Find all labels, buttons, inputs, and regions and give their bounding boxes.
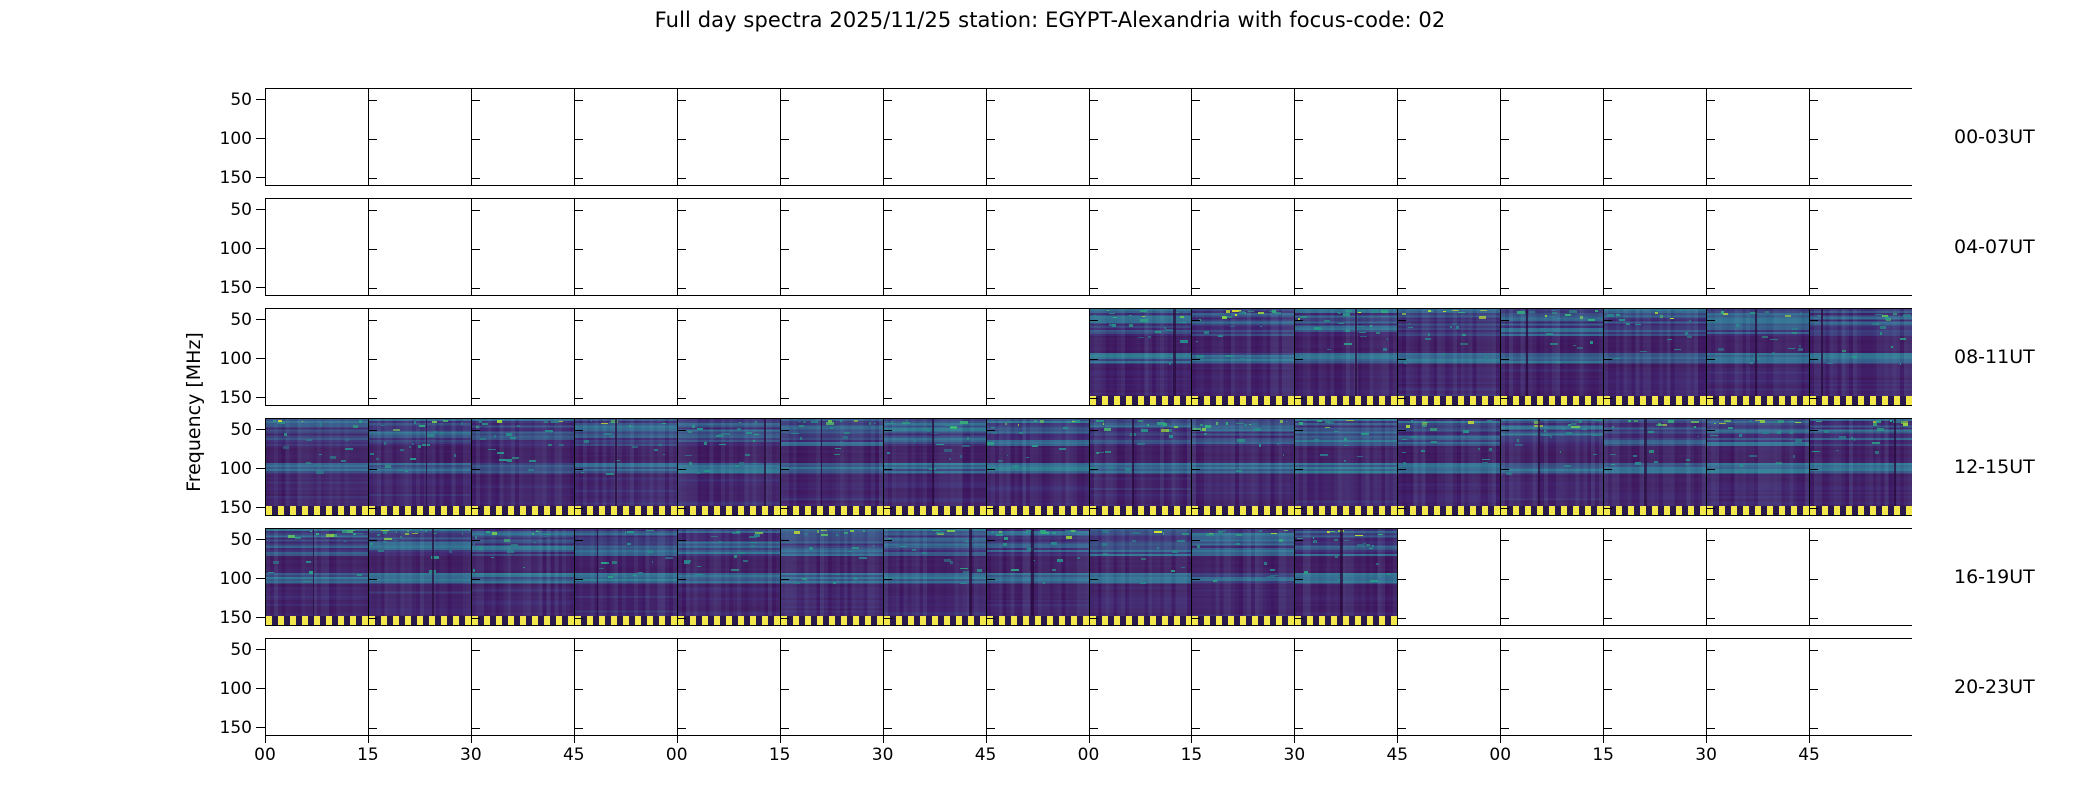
spectrogram-panel: [883, 638, 986, 736]
y-tick-mark-inner: [781, 359, 789, 360]
spectrogram-feature: [1891, 346, 1893, 348]
y-tick-mark-inner: [1810, 508, 1818, 509]
spectrogram-feature: [1254, 428, 1261, 431]
y-tick-mark-inner: [781, 100, 789, 101]
y-tick-mark-inner: [678, 249, 686, 250]
spectrogram-feature: [1358, 312, 1360, 313]
y-tick-mark-inner: [575, 650, 583, 651]
spectrogram-feature: [1157, 547, 1160, 548]
spectrogram-feature: [684, 561, 691, 564]
spectrogram-feature: [1626, 323, 1629, 324]
spectrogram-feature: [1431, 441, 1438, 443]
spectrogram-feature: [1196, 355, 1204, 358]
spectrogram-feature: [963, 571, 968, 573]
x-tick-label: 15: [1181, 745, 1203, 765]
spectrogram-feature: [1788, 421, 1793, 423]
spectrogram-feature: [1372, 310, 1378, 313]
y-tick-mark-inner: [575, 288, 583, 289]
y-tick-mark: [256, 177, 265, 178]
spectrogram-panel: [1191, 528, 1294, 626]
y-tick-mark-inner: [1398, 508, 1406, 509]
y-tick-mark-inner: [472, 139, 480, 140]
spectrogram-feature: [863, 530, 865, 532]
spectrogram-feature: [1174, 426, 1177, 428]
y-tick-mark-inner: [575, 689, 583, 690]
spectrogram-panel: [1603, 418, 1706, 516]
spectrogram-feature: [1872, 442, 1880, 444]
spectrogram-feature: [517, 425, 520, 427]
spectrogram-feature: [947, 530, 955, 532]
spectrogram-feature: [1286, 421, 1288, 423]
spectrogram-feature: [288, 535, 295, 537]
spectrogram-panel: [471, 528, 574, 626]
spectrogram-bottom-strip: [575, 506, 677, 515]
spectrogram-feature: [1236, 534, 1242, 535]
spectrogram-dropout: [1526, 309, 1529, 396]
spectrogram-feature: [1529, 311, 1535, 313]
y-tick-mark-inner: [987, 398, 995, 399]
spectrogram-feature: [1300, 316, 1308, 318]
x-tick-mark: [677, 736, 678, 743]
spectrogram-feature: [433, 431, 438, 433]
spectrogram-feature: [1068, 422, 1071, 424]
spectrogram-feature: [707, 424, 713, 425]
spectrogram-feature: [1251, 423, 1258, 425]
spectrogram-panel: [574, 528, 677, 626]
y-tick-mark-inner: [884, 430, 892, 431]
spectrogram-feature: [316, 424, 318, 425]
spectrogram-feature: [1552, 312, 1557, 314]
spectrogram-data: [781, 419, 883, 515]
spectrogram-feature: [854, 577, 857, 580]
y-tick-mark-inner: [1810, 540, 1818, 541]
spectrogram-feature: [1762, 432, 1769, 434]
spectrogram-panel: [986, 308, 1089, 406]
y-tick-mark-inner: [678, 398, 686, 399]
spectrogram-feature: [1679, 310, 1683, 311]
spectrogram-panel: [1603, 198, 1706, 296]
spectrogram-bottom-strip: [987, 506, 1089, 515]
y-tick-mark-inner: [781, 430, 789, 431]
y-tick-label: 50: [230, 310, 252, 330]
spectrogram-feature: [1165, 329, 1173, 331]
y-tick-mark-inner: [575, 430, 583, 431]
spectrogram-feature: [1614, 358, 1620, 359]
spectrogram-panel: [1809, 638, 1912, 736]
spectrogram-feature: [711, 536, 718, 538]
spectrogram-feature: [310, 531, 313, 532]
spectrogram-feature: [393, 540, 399, 541]
y-tick-mark-inner: [1707, 249, 1715, 250]
x-tick-label: 30: [1695, 745, 1717, 765]
y-tick-mark: [256, 617, 265, 618]
spectrogram-feature: [1588, 319, 1595, 321]
y-tick-mark-inner: [1295, 469, 1303, 470]
spectrogram-feature: [1569, 310, 1577, 313]
spectrogram-feature: [821, 530, 826, 531]
spectrogram-feature: [497, 452, 504, 454]
spectrogram-feature: [1785, 315, 1790, 318]
y-tick-mark-inner: [1707, 178, 1715, 179]
spectrogram-data: [266, 419, 368, 515]
y-tick-mark-inner: [1295, 288, 1303, 289]
spectrogram-feature: [755, 575, 757, 576]
spectrogram-feature: [1077, 557, 1080, 559]
spectrogram-data: [987, 419, 1089, 515]
spectrogram-feature: [1226, 310, 1230, 313]
spectrogram-panel: [1809, 528, 1912, 626]
y-tick-mark-inner: [1192, 579, 1200, 580]
spectrogram-feature: [462, 532, 464, 535]
spectrogram-feature: [1356, 326, 1364, 327]
y-tick-mark-inner: [1398, 430, 1406, 431]
spectrogram-feature: [1772, 352, 1775, 355]
spectrogram-feature: [1357, 544, 1365, 547]
x-tick-label: 15: [357, 745, 379, 765]
y-tick-label: 150: [220, 608, 252, 628]
spectrogram-feature: [1718, 348, 1724, 350]
x-tick-mark: [1089, 736, 1090, 743]
spectrogram-dropout: [615, 419, 617, 506]
y-tick-mark-inner: [575, 728, 583, 729]
y-tick-label: 100: [220, 679, 252, 699]
y-tick-mark-inner: [987, 100, 995, 101]
y-tick-mark-inner: [1295, 359, 1303, 360]
y-tick-mark-inner: [472, 320, 480, 321]
y-tick-mark-inner: [1501, 320, 1509, 321]
spectrogram-feature: [415, 530, 419, 533]
y-tick-mark-inner: [1604, 508, 1612, 509]
spectrogram-feature: [648, 550, 652, 553]
spectrogram-panel: [1706, 528, 1809, 626]
y-tick-label: 50: [230, 640, 252, 660]
x-tick-label: 00: [666, 745, 688, 765]
spectrogram-feature: [848, 551, 852, 552]
spectrogram-panel: [1089, 308, 1192, 406]
spectrogram-feature: [344, 541, 347, 542]
spectrogram-feature: [1376, 332, 1380, 335]
y-tick-mark-inner: [1192, 398, 1200, 399]
y-tick-mark-inner: [369, 430, 377, 431]
spectrogram-panel: [883, 88, 986, 186]
spectrogram-dropout: [1173, 309, 1176, 396]
y-tick-mark-inner: [678, 469, 686, 470]
y-tick-mark-inner: [884, 540, 892, 541]
spectrogram-feature: [507, 459, 512, 462]
spectrogram-feature: [1004, 537, 1008, 540]
y-tick-mark-inner: [1398, 359, 1406, 360]
y-tick-mark-inner: [781, 320, 789, 321]
spectrogram-feature: [1571, 426, 1579, 428]
spectrogram-feature: [1667, 339, 1673, 341]
spectrogram-feature: [1204, 331, 1209, 333]
spectrogram-data: [1192, 419, 1294, 515]
y-tick-mark-inner: [1707, 689, 1715, 690]
spectrogram-feature: [1610, 454, 1616, 455]
y-tick-mark-inner: [1810, 320, 1818, 321]
spectrogram-feature: [996, 534, 1003, 536]
spectrogram-feature: [751, 545, 754, 547]
spectrogram-feature: [608, 576, 613, 578]
spectrogram-feature: [516, 546, 518, 547]
y-tick-mark-inner: [1192, 728, 1200, 729]
spectrogram-feature: [342, 530, 348, 532]
spectrogram-feature: [381, 425, 385, 426]
spectrogram-feature: [1279, 539, 1283, 542]
spectrogram-feature: [1479, 316, 1486, 318]
spectrogram-feature: [1043, 582, 1045, 583]
spectrogram-dropout: [1538, 419, 1540, 506]
y-tick-mark-inner: [575, 249, 583, 250]
spectrogram-dropout: [1132, 419, 1134, 506]
y-tick-mark-inner: [1604, 249, 1612, 250]
spectrogram-feature: [528, 469, 533, 471]
spectrogram-feature: [1428, 333, 1430, 336]
spectrogram-feature: [1404, 361, 1407, 364]
spectrogram-dropout: [1644, 419, 1647, 506]
y-tick-mark-inner: [1398, 249, 1406, 250]
spectrogram-feature: [1468, 421, 1474, 424]
spectrogram-feature: [731, 569, 739, 572]
spectrogram-feature: [1283, 454, 1284, 456]
spectrogram-feature: [1317, 420, 1322, 422]
y-tick-mark-inner: [1295, 618, 1303, 619]
y-tick-mark-inner: [987, 650, 995, 651]
spectrogram-panel: [986, 88, 1089, 186]
y-tick-mark-inner: [1501, 178, 1509, 179]
y-tick-mark-inner: [1090, 689, 1098, 690]
spectrogram-feature: [461, 422, 463, 425]
spectrogram-feature: [627, 531, 634, 533]
y-tick-mark-inner: [1090, 728, 1098, 729]
spectrogram-panel: [1397, 418, 1500, 516]
spectrogram-panel: [1603, 528, 1706, 626]
spectrogram-feature: [475, 536, 476, 538]
spectrogram-feature: [1102, 543, 1107, 546]
y-tick-mark-inner: [369, 689, 377, 690]
spectrogram-feature: [443, 420, 448, 422]
spectrogram-feature: [737, 428, 741, 431]
spectrogram-panel: [780, 308, 883, 406]
spectrogram-panel: [677, 418, 780, 516]
spectrogram-panel: [1089, 418, 1192, 516]
y-tick-mark-inner: [1090, 398, 1098, 399]
spectrogram-feature: [1337, 312, 1339, 313]
x-tick-label: 45: [1386, 745, 1408, 765]
spectrogram-dropout: [764, 419, 766, 506]
spectrogram-feature: [1376, 563, 1379, 565]
spectrogram-feature: [385, 465, 391, 467]
spectrogram-panel: [986, 198, 1089, 296]
y-tick-mark-inner: [369, 359, 377, 360]
spectrogram-panel: [1397, 638, 1500, 736]
y-tick-mark-inner: [472, 650, 480, 651]
spectrogram-row: 15010050: [265, 418, 1912, 516]
y-tick-mark-inner: [884, 100, 892, 101]
spectrogram-feature: [1740, 464, 1743, 467]
spectrogram-feature: [1577, 347, 1584, 349]
spectrogram-feature: [1003, 543, 1007, 546]
spectrogram-feature: [1236, 543, 1240, 545]
spectrogram-feature: [1313, 540, 1317, 543]
y-tick-mark-inner: [1192, 249, 1200, 250]
y-tick-mark-inner: [1295, 100, 1303, 101]
spectrogram-feature: [802, 578, 807, 580]
spectrogram-feature: [1686, 459, 1689, 460]
spectrogram-feature: [511, 544, 518, 545]
spectrogram-panel: [1500, 308, 1603, 406]
spectrogram-feature: [548, 444, 552, 446]
spectrogram-feature: [1172, 550, 1178, 552]
y-tick-mark-inner: [1810, 210, 1818, 211]
y-tick-mark-inner: [1501, 469, 1509, 470]
spectrogram-panel: [780, 88, 883, 186]
spectrogram-feature: [1071, 530, 1076, 532]
spectrogram-feature: [743, 560, 748, 562]
spectrogram-feature: [407, 530, 409, 532]
spectrogram-feature: [1334, 539, 1338, 541]
spectrogram-feature: [685, 455, 692, 456]
spectrogram-feature: [1128, 361, 1130, 362]
spectrogram-feature: [646, 530, 654, 531]
spectrogram-feature: [654, 449, 658, 451]
spectrogram-feature: [1370, 580, 1378, 582]
spectrogram-feature: [1770, 339, 1777, 341]
x-tick-mark: [1397, 736, 1398, 743]
y-tick-mark-inner: [1810, 359, 1818, 360]
y-tick-mark-inner: [369, 469, 377, 470]
spectrogram-data: [1398, 309, 1500, 405]
y-tick-mark-inner: [1810, 430, 1818, 431]
spectrogram-feature: [739, 422, 740, 424]
spectrogram-panel: [1603, 308, 1706, 406]
x-tick-label: 45: [1798, 745, 1820, 765]
spectrogram-feature: [1558, 362, 1561, 363]
spectrogram-data: [678, 419, 780, 515]
spectrogram-feature: [1197, 545, 1201, 548]
spectrogram-feature: [1710, 435, 1718, 436]
spectrogram-feature: [1008, 421, 1013, 423]
spectrogram-feature: [1517, 439, 1519, 442]
spectrogram-feature: [1425, 338, 1431, 340]
y-tick-mark-inner: [472, 210, 480, 211]
spectrogram-feature: [341, 460, 347, 462]
spectrogram-feature: [633, 575, 636, 576]
spectrogram-bottom-strip: [781, 506, 883, 515]
y-tick-mark-inner: [884, 579, 892, 580]
spectrogram-panel: [1500, 88, 1603, 186]
x-tick-label: 45: [975, 745, 997, 765]
y-tick-mark-inner: [1707, 579, 1715, 580]
spectrogram-feature: [1324, 320, 1330, 322]
spectrogram-feature: [1052, 569, 1057, 571]
spectrogram-feature: [1778, 420, 1785, 423]
spectrogram-feature: [1032, 445, 1038, 447]
spectrogram-feature: [381, 530, 388, 531]
spectrogram-feature: [306, 462, 311, 464]
spectrogram-feature: [1057, 559, 1063, 562]
y-tick-mark-inner: [1295, 430, 1303, 431]
spectrogram-feature: [912, 549, 916, 551]
y-tick-mark: [256, 397, 265, 398]
spectrogram-feature: [1052, 532, 1057, 534]
spectrogram-feature: [1141, 558, 1146, 559]
x-tick-mark: [1294, 736, 1295, 743]
spectrogram-panel: [471, 418, 574, 516]
y-tick-label: 100: [220, 239, 252, 259]
spectrogram-feature: [1324, 463, 1331, 465]
spectrogram-feature: [1482, 462, 1487, 464]
y-tick-mark-inner: [575, 178, 583, 179]
spectrogram-feature: [844, 432, 850, 433]
y-tick-mark-inner: [1604, 100, 1612, 101]
y-tick-mark-inner: [1090, 288, 1098, 289]
y-tick-mark-inner: [369, 139, 377, 140]
spectrogram-feature: [1346, 420, 1354, 421]
y-tick-mark-inner: [987, 508, 995, 509]
spectrogram-feature: [1616, 314, 1620, 316]
spectrogram-feature: [1129, 315, 1132, 316]
y-tick-mark-inner: [1604, 469, 1612, 470]
y-tick-mark-inner: [678, 100, 686, 101]
y-tick-mark-inner: [369, 650, 377, 651]
spectrogram-feature: [532, 533, 534, 535]
spectrogram-feature: [1750, 362, 1752, 364]
y-tick-mark-inner: [1398, 728, 1406, 729]
spectrogram-panel: [1706, 308, 1809, 406]
spectrogram-feature: [544, 421, 548, 423]
spectrogram-feature: [1277, 443, 1279, 446]
y-tick-mark-inner: [369, 540, 377, 541]
spectrogram-feature: [1148, 336, 1151, 337]
y-tick-mark-inner: [575, 359, 583, 360]
spectrogram-feature: [1545, 315, 1547, 317]
spectrogram-data: [1707, 309, 1809, 405]
spectrogram-feature: [1034, 420, 1037, 422]
spectrogram-feature: [454, 454, 456, 456]
spectrogram-feature: [794, 531, 800, 534]
spectrogram-data: [1090, 419, 1192, 515]
spectrogram-feature: [1788, 348, 1795, 349]
y-tick-mark-inner: [575, 210, 583, 211]
spectrogram-data: [1295, 309, 1397, 405]
spectrogram-feature: [629, 425, 631, 427]
spectrogram-feature: [1065, 530, 1071, 532]
y-tick-mark-inner: [987, 178, 995, 179]
y-tick-mark-inner: [1604, 579, 1612, 580]
spectrogram-feature: [1218, 335, 1223, 337]
spectrogram-feature: [1595, 310, 1598, 312]
spectrogram-feature: [1590, 341, 1593, 344]
spectrogram-feature: [1482, 459, 1490, 461]
spectrogram-feature: [1463, 430, 1469, 433]
x-tick-mark: [780, 736, 781, 743]
y-tick-mark-inner: [1295, 249, 1303, 250]
spectrogram-feature: [612, 561, 616, 563]
spectrogram-feature: [1018, 424, 1019, 426]
y-tick-mark-inner: [472, 100, 480, 101]
spectrogram-feature: [1206, 533, 1214, 536]
spectrogram-feature: [1339, 356, 1342, 357]
y-tick-label: 150: [220, 718, 252, 738]
spectrogram-bottom-strip: [266, 506, 368, 515]
y-tick-mark-inner: [1501, 618, 1509, 619]
spectrogram-feature: [1800, 312, 1802, 315]
spectrogram-panel: [1089, 638, 1192, 736]
spectrogram-feature: [1728, 420, 1730, 421]
x-tick-label: 45: [563, 745, 585, 765]
spectrogram-feature: [1685, 332, 1688, 335]
